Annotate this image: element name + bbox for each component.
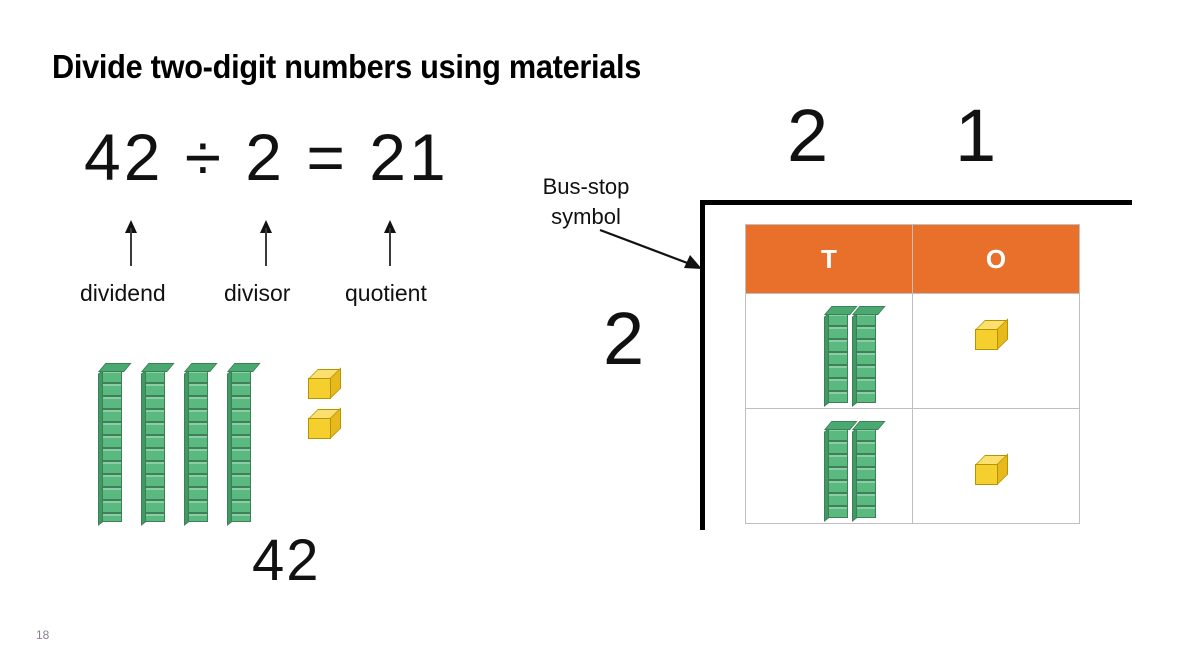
table-row: [746, 409, 1080, 524]
rod-front-face: [856, 428, 876, 518]
callout-line-1: Bus-stop: [516, 172, 656, 202]
cell-content: [913, 294, 1079, 408]
label-divisor: divisor: [224, 280, 290, 307]
rod-top-face: [141, 363, 175, 372]
rod-front-face: [102, 370, 122, 522]
table-header-row: T O: [746, 225, 1080, 294]
arrow-up-icon-divisor: [259, 220, 273, 266]
label-quotient: quotient: [345, 280, 427, 307]
cell-tens-row2: [746, 409, 913, 524]
callout-arrow-icon: [598, 228, 708, 274]
arrow-up-icon-quotient: [383, 220, 397, 266]
cell-ones-row2: [913, 409, 1080, 524]
bus-stop-vertical-bar: [700, 200, 705, 530]
label-dividend: dividend: [80, 280, 166, 307]
cell-content: [746, 294, 912, 408]
cube-front-face: [308, 378, 331, 399]
arrow-up-icon-dividend: [124, 220, 138, 266]
unit-cube: [975, 455, 1009, 485]
cell-ones-row1: [913, 294, 1080, 409]
page-title: Divide two-digit numbers using materials: [52, 48, 641, 86]
cell-tens-row1: [746, 294, 913, 409]
rod-top-face: [98, 363, 132, 372]
quotient-digit-tens: 2: [787, 93, 828, 178]
cube-front-face: [975, 329, 998, 350]
rod-front-face: [145, 370, 165, 522]
unit-cube: [308, 409, 342, 439]
unit-cube: [975, 320, 1009, 350]
rod-front-face: [828, 428, 848, 518]
rod-front-face: [231, 370, 251, 522]
column-header-tens: T: [746, 225, 913, 294]
slide-canvas: Divide two-digit numbers using materials…: [0, 0, 1200, 660]
arrow-shaft: [265, 228, 267, 266]
unit-cube: [308, 369, 342, 399]
arrow-shaft: [130, 228, 132, 266]
table-row: [746, 294, 1080, 409]
rod-front-face: [828, 313, 848, 403]
quotient-digit-ones: 1: [955, 93, 996, 178]
column-header-ones: O: [913, 225, 1080, 294]
cube-front-face: [975, 464, 998, 485]
arrow-shaft: [389, 228, 391, 266]
place-value-table: T O: [745, 224, 1080, 524]
cube-front-face: [308, 418, 331, 439]
bus-stop-divisor: 2: [603, 296, 644, 381]
cell-content: [913, 409, 1079, 523]
callout-bus-stop-symbol: Bus-stop symbol: [516, 172, 656, 232]
rod-top-face: [184, 363, 218, 372]
rod-top-face: [227, 363, 261, 372]
rod-top-face: [852, 421, 886, 430]
rod-front-face: [188, 370, 208, 522]
bus-stop-horizontal-bar: [700, 200, 1132, 205]
page-number: 18: [36, 628, 49, 642]
equation-text: 42 ÷ 2 = 21: [84, 119, 449, 195]
rod-front-face: [856, 313, 876, 403]
materials-total-label: 42: [252, 527, 321, 594]
rod-top-face: [852, 306, 886, 315]
cell-content: [746, 409, 912, 523]
